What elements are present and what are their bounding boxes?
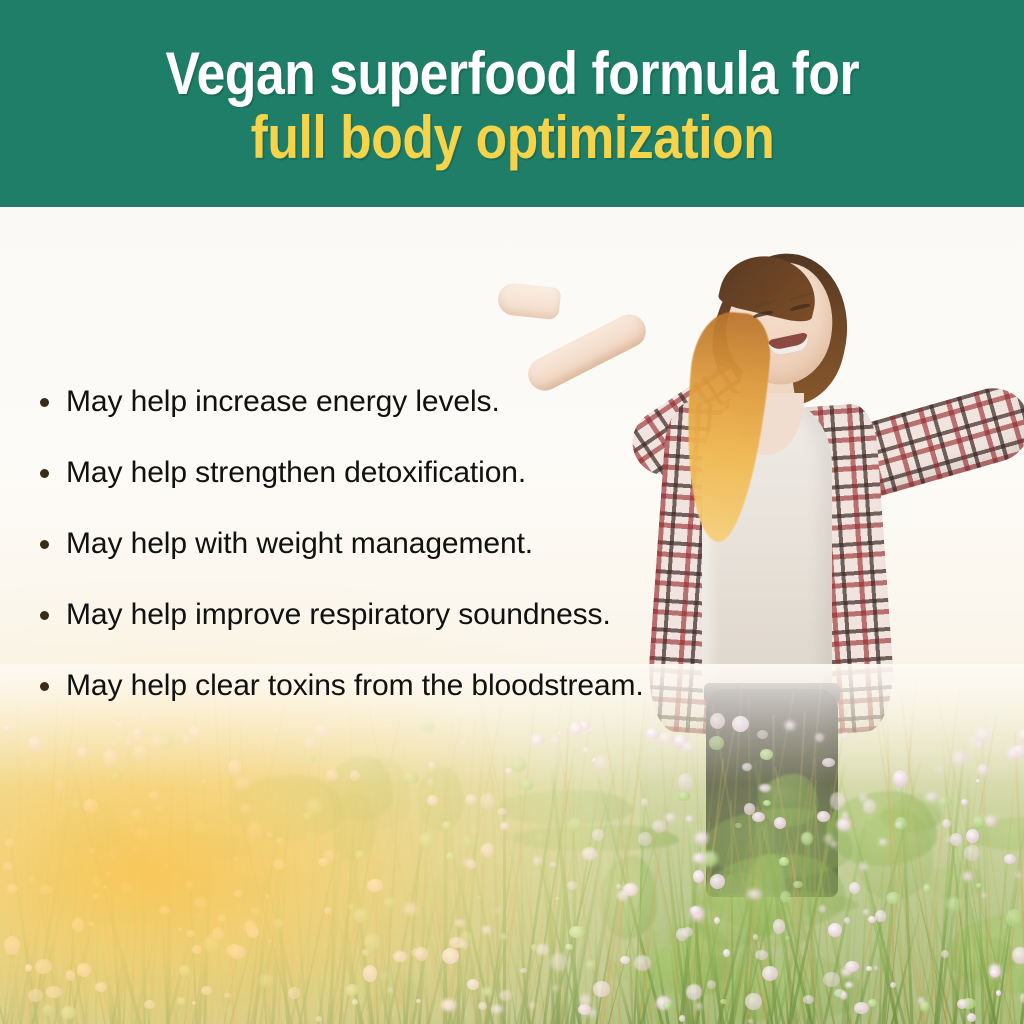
wildflower [455, 919, 466, 927]
wildflower [623, 883, 638, 896]
wildflower [35, 959, 51, 975]
benefit-item: May help strengthen detoxification. [40, 456, 720, 527]
benefit-text: May help increase energy levels. [66, 385, 500, 419]
wildflower [592, 829, 603, 840]
flower-bud [346, 984, 358, 996]
hand-left [496, 282, 561, 320]
flower-bud [61, 1006, 76, 1019]
wildflower [634, 955, 651, 970]
wildflower [3, 862, 12, 871]
wildflower [248, 822, 262, 838]
wildflower [496, 908, 500, 913]
wildflower [679, 1015, 685, 1022]
wildflower [828, 923, 842, 937]
wildflower [4, 936, 20, 955]
wildflower [229, 945, 245, 959]
wildflower [144, 1000, 155, 1009]
wildflower [982, 893, 986, 898]
wildflower [842, 812, 848, 819]
wildflower [620, 956, 630, 963]
flower-bud [43, 1004, 53, 1016]
wildflower [89, 848, 95, 853]
wildflower [416, 999, 421, 1003]
wildflower [874, 966, 878, 970]
wildflower [367, 879, 382, 892]
wildflower [996, 990, 1001, 996]
wildflower [984, 816, 997, 827]
flower-bud [384, 897, 395, 908]
flower-bud [555, 897, 560, 900]
wildflower [580, 994, 591, 1007]
bullet-dot-icon [40, 540, 49, 549]
wildflower [753, 934, 758, 939]
wildflower [845, 961, 859, 972]
wildflower [824, 834, 833, 844]
wildflower [201, 986, 212, 995]
wildflower [963, 872, 971, 881]
wildflower [482, 926, 491, 935]
flower-bud [1006, 909, 1022, 928]
wildflower [714, 917, 720, 924]
wildflower [83, 799, 98, 813]
wildflower [499, 990, 512, 1001]
header-banner: Vegan superfood formula for full body op… [0, 0, 1024, 207]
flower-bud [351, 819, 355, 822]
benefit-text: May help strengthen detoxification. [66, 456, 526, 490]
wildflower [845, 982, 853, 988]
wildflower [695, 832, 708, 844]
headline-line-2: full body optimization [250, 107, 774, 168]
wildflower [550, 953, 567, 971]
wildflower [95, 982, 107, 993]
wildflower [465, 794, 477, 805]
benefit-item: May help clear toxins from the bloodstre… [40, 669, 720, 740]
wildflower [106, 871, 112, 877]
wildflower [241, 804, 251, 815]
flower-bud [259, 974, 274, 987]
wildflower [837, 818, 851, 831]
wildflower [481, 843, 494, 857]
wildflower [266, 832, 272, 838]
wildflower [60, 809, 65, 813]
flower-bud [886, 892, 901, 904]
flower-bud [531, 944, 537, 951]
flower-bud [419, 832, 434, 849]
flower-bud [135, 815, 142, 822]
flower-bud [868, 999, 877, 1006]
wildflower [1020, 993, 1024, 1002]
flower-bud [4, 829, 9, 834]
flower-bud [663, 1002, 671, 1009]
wildflower [324, 907, 330, 914]
flower-bud [923, 884, 930, 892]
wildflower [942, 819, 951, 828]
wildflower [427, 795, 437, 806]
wildflower [89, 921, 94, 927]
wildflower [265, 894, 269, 899]
wildflower [1004, 854, 1016, 864]
flower-bud [946, 897, 963, 913]
wildflower [1016, 872, 1021, 877]
wildflower [964, 845, 980, 860]
wildflower [616, 884, 621, 889]
grass-blade [443, 771, 448, 1024]
wildflower [212, 927, 223, 940]
wildflower [652, 820, 665, 833]
flower-bud [477, 896, 481, 899]
benefit-item: May help improve respiratory soundness. [40, 598, 720, 669]
flower-bud [565, 944, 572, 951]
flower-bud [268, 939, 272, 943]
wildflower [529, 1002, 535, 1009]
wildflower [108, 849, 119, 858]
wildflower [218, 914, 226, 922]
wildflower [593, 981, 610, 997]
flower-bud [735, 823, 741, 829]
wildflower [1012, 947, 1024, 965]
flower-bud [586, 960, 595, 969]
wildflower [868, 916, 876, 923]
flower-bud [569, 926, 585, 938]
benefit-text: May help improve respiratory soundness. [66, 598, 611, 632]
wildflower [745, 993, 761, 1010]
flower-bud [568, 817, 581, 832]
wildflower [72, 918, 84, 931]
wildflower [925, 793, 937, 802]
flower-bud [801, 832, 813, 845]
wildflower [844, 917, 850, 924]
bullet-dot-icon [40, 682, 49, 691]
wildflower [277, 838, 283, 843]
wildflower [441, 999, 456, 1010]
promo-poster: Vegan superfood formula for full body op… [0, 0, 1024, 1024]
wildflower [93, 894, 99, 900]
wildflower [947, 837, 952, 842]
wildflower [244, 920, 256, 933]
wildflower [7, 884, 18, 893]
flower-bud [446, 852, 455, 860]
flower-bud [937, 796, 952, 807]
flower-bud [920, 1001, 929, 1012]
wildflower [318, 858, 329, 866]
flower-bud [973, 815, 984, 829]
wildflower [415, 947, 428, 961]
wildflower [676, 928, 688, 941]
wildflower [491, 1005, 502, 1013]
bullet-dot-icon [40, 398, 49, 407]
flower-bud [793, 881, 802, 888]
wildflower [823, 972, 840, 987]
wildflower [478, 1002, 487, 1010]
wildflower [25, 964, 32, 972]
flower-bud [364, 933, 379, 951]
wildflower [879, 839, 887, 845]
flower-bud [92, 876, 102, 888]
benefit-item: May help increase energy levels. [40, 385, 720, 456]
flower-bud [976, 883, 982, 888]
wildflower [288, 987, 300, 1000]
wildflower [686, 984, 702, 1000]
wildflower [860, 863, 867, 870]
wildflower [773, 919, 786, 934]
flower-bud [785, 936, 790, 940]
flower-bud [177, 997, 185, 1005]
wildflower [941, 950, 948, 958]
wildflower [567, 881, 577, 891]
wildflower [693, 853, 705, 862]
flower-bud [179, 965, 189, 976]
flower-bud [763, 800, 771, 806]
flower-bud [353, 908, 369, 924]
wildflower [192, 945, 202, 954]
flower-bud [306, 798, 323, 817]
benefit-item: May help with weight management. [40, 527, 720, 598]
bullet-dot-icon [40, 469, 49, 478]
wildflower [762, 966, 778, 981]
wildflower [134, 828, 149, 841]
wildflower [404, 903, 417, 914]
flower-bud [131, 846, 139, 852]
benefits-list: May help increase energy levels.May help… [40, 385, 720, 740]
wildflower [197, 913, 201, 917]
benefit-text: May help with weight management. [66, 527, 533, 561]
wildflower [582, 847, 597, 861]
wildflower [500, 934, 506, 940]
wildflower [859, 793, 867, 803]
flower-bud [463, 836, 473, 848]
wildflower [316, 1016, 322, 1022]
bullet-dot-icon [40, 611, 49, 620]
wildflower [186, 881, 192, 888]
forearm-left [522, 309, 651, 397]
wildflower [251, 908, 257, 914]
flower-bud [678, 791, 690, 800]
wildflower [686, 816, 694, 821]
wildflower [537, 835, 542, 839]
wildflower [723, 949, 730, 957]
wildflower [164, 863, 169, 868]
grass-blade [503, 754, 507, 1024]
wildflower [638, 832, 652, 846]
wildflower [273, 919, 284, 928]
flower-bud [348, 904, 354, 908]
headline-line-1: Vegan superfood formula for [165, 43, 859, 104]
wildflower [500, 822, 508, 830]
wildflower [46, 986, 62, 998]
wildflower [497, 808, 507, 815]
wildflower [233, 857, 239, 861]
wildflower [472, 828, 478, 833]
wildflower [990, 969, 1000, 976]
wildflower [696, 1003, 702, 1010]
wildflower [803, 995, 814, 1004]
benefit-text: May help clear toxins from the bloodstre… [66, 669, 644, 703]
wildflower [866, 966, 872, 970]
